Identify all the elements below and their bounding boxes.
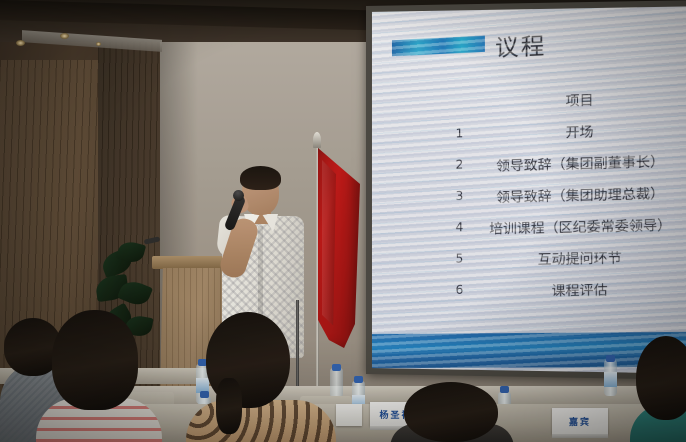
ceiling-downlight	[60, 33, 69, 39]
bottle-cap	[332, 364, 341, 371]
agenda-row-number: 5	[450, 251, 468, 265]
agenda-row-number: 1	[450, 126, 468, 141]
attendee-right-woman-head	[636, 336, 686, 420]
agenda-row: 6 课程评估	[372, 275, 686, 311]
projection-screen: 议程 项目 1 开场 2 领导致辞（集团副董事长） 3 领导致辞（集团助理总裁）	[366, 0, 686, 380]
slide-accent-bar	[392, 36, 485, 57]
conference-room-photo: 议程 项目 1 开场 2 领导致辞（集团副董事长） 3 领导致辞（集团助理总裁）	[0, 0, 686, 442]
bottle-label	[604, 372, 617, 387]
nameplate-guest-text: 嘉宾	[569, 415, 591, 428]
ceiling-downlight	[96, 42, 101, 46]
agenda-row-number: 3	[450, 189, 468, 204]
agenda-row-item: 领导致辞（集团副董事长）	[479, 149, 682, 175]
bottle-cap	[500, 386, 509, 393]
agenda-row-number: 6	[450, 282, 468, 296]
attendee-left-woman-head	[52, 310, 138, 410]
agenda-table: 项目 1 开场 2 领导致辞（集团副董事长） 3 领导致辞（集团助理总裁） 4 …	[372, 87, 686, 311]
speaker-hair	[240, 166, 281, 190]
slide-title: 议程	[495, 27, 546, 64]
agenda-row-item: 领导致辞（集团助理总裁）	[479, 181, 682, 206]
nameplate-partial	[336, 404, 362, 426]
flag-pole-finial	[313, 132, 321, 148]
agenda-row-item: 课程评估	[479, 277, 682, 300]
agenda-header-number	[450, 95, 468, 96]
bottle-cap	[200, 391, 209, 398]
bottle-cap	[354, 376, 363, 383]
slide-surface: 议程 项目 1 开场 2 领导致辞（集团副董事长） 3 领导致辞（集团助理总裁）	[372, 6, 686, 374]
nameplate-guest-edge	[552, 434, 608, 438]
bottle-cap	[606, 355, 615, 362]
agenda-row-number: 2	[450, 157, 468, 172]
water-bottle	[330, 368, 343, 398]
agenda-row-number: 4	[450, 220, 468, 235]
agenda-row-item: 互动提问环节	[479, 245, 682, 269]
agenda-row-item: 开场	[479, 117, 682, 143]
agenda-row: 5 互动提问环节	[372, 243, 686, 280]
agenda-header-item: 项目	[479, 85, 682, 112]
agenda-row-item: 培训课程（区纪委常委领导）	[479, 213, 682, 238]
ceiling-downlight	[16, 40, 25, 46]
attendee-center-woman-ponytail	[216, 378, 242, 434]
nameplate-guest: 嘉宾	[552, 408, 608, 434]
attendee-center-man-head	[404, 382, 498, 442]
